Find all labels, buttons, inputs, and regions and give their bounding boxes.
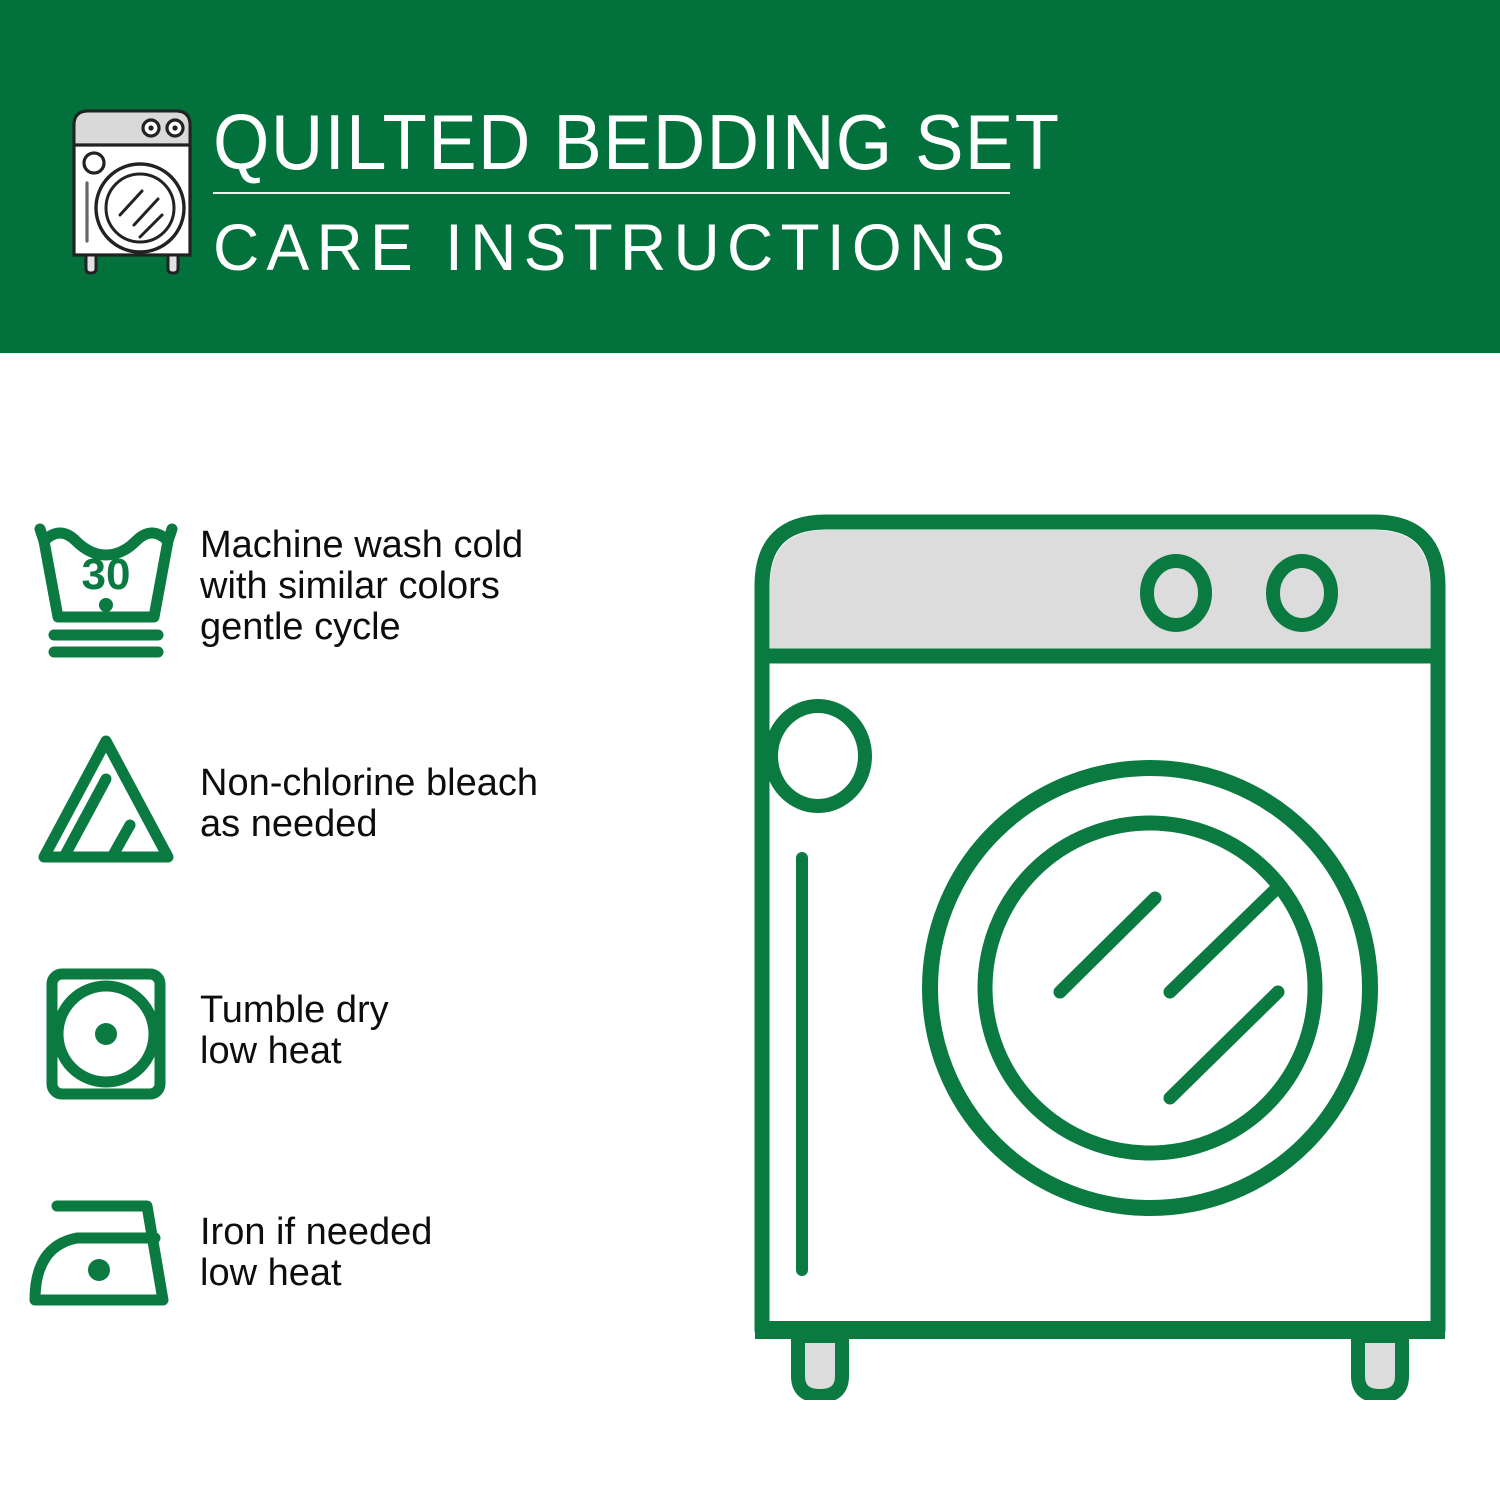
care-instructions-page: QUILTED BEDDING SET CARE INSTRUCTIONS 30 xyxy=(0,0,1500,1500)
detergent-indicator-circle xyxy=(771,706,865,806)
care-line: as needed xyxy=(200,804,538,845)
care-line: Non-chlorine bleach xyxy=(200,763,538,804)
care-line: Tumble dry xyxy=(200,990,389,1031)
care-line: Machine wash cold xyxy=(200,525,523,566)
leg-right xyxy=(1358,1336,1402,1396)
care-instruction-text-bleach: Non-chlorine bleach as needed xyxy=(200,725,538,845)
care-instruction-text-wash: Machine wash cold with similar colors ge… xyxy=(200,511,523,648)
page-title: QUILTED BEDDING SET xyxy=(213,100,966,184)
wash-tub-30-gentle-icon: 30 xyxy=(0,511,200,661)
care-line: gentle cycle xyxy=(200,607,523,648)
care-instruction-item-bleach: Non-chlorine bleach as needed xyxy=(0,725,740,875)
care-line: Iron if needed xyxy=(200,1212,432,1253)
care-line: low heat xyxy=(200,1031,389,1072)
knob-right xyxy=(1273,561,1331,625)
tumble-dry-low-heat-icon xyxy=(0,960,200,1110)
page-subtitle: CARE INSTRUCTIONS xyxy=(213,212,999,282)
care-instruction-item-iron: Iron if needed low heat xyxy=(0,1188,740,1318)
care-instruction-text-iron: Iron if needed low heat xyxy=(200,1188,432,1294)
leg-left xyxy=(798,1336,842,1396)
care-line: with similar colors xyxy=(200,566,523,607)
non-chlorine-bleach-triangle-icon xyxy=(0,725,200,875)
care-instruction-text-dry: Tumble dry low heat xyxy=(200,960,389,1072)
care-instruction-item-dry: Tumble dry low heat xyxy=(0,960,740,1110)
washing-machine-icon xyxy=(62,103,202,275)
knob-left xyxy=(1147,561,1205,625)
header-text-block: QUILTED BEDDING SET CARE INSTRUCTIONS xyxy=(213,100,1023,282)
care-instruction-item-wash: 30 Machine wash cold with similar colors… xyxy=(0,511,740,661)
header-band: QUILTED BEDDING SET CARE INSTRUCTIONS xyxy=(0,0,1500,353)
care-line: low heat xyxy=(200,1253,432,1294)
iron-low-heat-icon xyxy=(0,1188,200,1318)
header-divider xyxy=(213,192,1010,194)
wash-temperature-value: 30 xyxy=(82,550,131,599)
front-load-washing-machine-illustration xyxy=(730,480,1470,1400)
door-inner-ring xyxy=(985,823,1315,1153)
care-instruction-list: 30 Machine wash cold with similar colors… xyxy=(0,353,740,1500)
